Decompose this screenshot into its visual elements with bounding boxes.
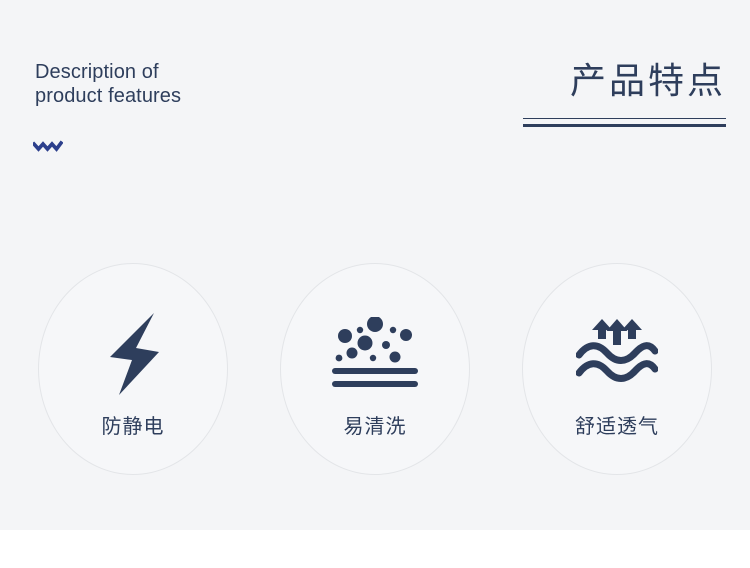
heading-right-group: 产品特点 [466,58,726,127]
feature-item-antistatic: 防静电 [38,263,228,475]
zigzag-wave-icon [33,139,63,153]
breathable-airflow-waves-icon [576,306,658,402]
feature-list: 防静电 [0,263,750,475]
english-heading: Description of product features [35,60,365,108]
feature-label: 易清洗 [344,410,407,439]
chinese-heading: 产品特点 [466,58,726,106]
underline-thick [523,124,726,127]
underline-thin [523,118,726,119]
lightning-bolt-icon [102,306,164,402]
bubbles-over-fabric-icon [332,306,418,402]
product-features-section: Description of product features 产品特点 防静电 [0,0,750,568]
feature-label: 舒适透气 [575,410,659,439]
feature-item-breathable: 舒适透气 [522,263,712,475]
feature-item-easy-clean: 易清洗 [280,263,470,475]
heading-underline-group [523,118,726,127]
feature-label: 防静电 [102,410,165,439]
heading-left-group: Description of product features [35,60,365,108]
